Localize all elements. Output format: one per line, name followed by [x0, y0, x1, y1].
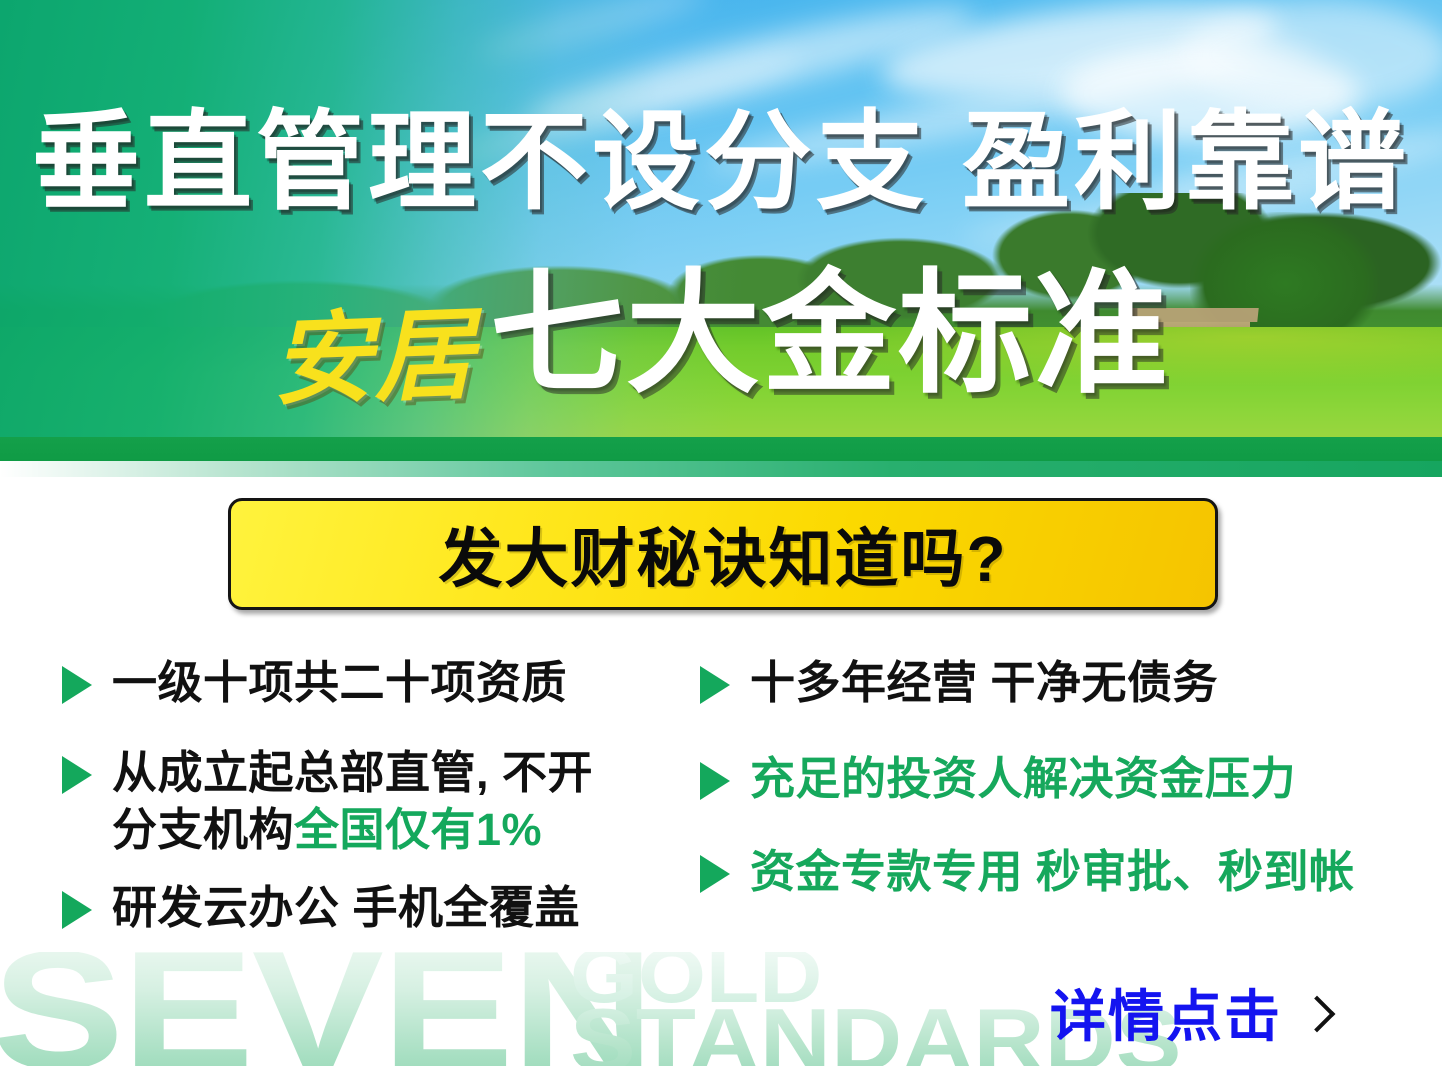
list-item: 研发云办公 手机全覆盖 [62, 880, 702, 936]
feature-text: 十多年经营 干净无债务 [750, 655, 1218, 711]
feature-line: 一级十项共二十项资质 [112, 657, 567, 708]
feature-text: 一级十项共二十项资质 [112, 655, 567, 711]
chevron-right-icon [1299, 995, 1336, 1032]
feature-text: 研发云办公 手机全覆盖 [112, 880, 580, 936]
feature-text: 资金专款专用 秒审批、秒到帐 [750, 844, 1355, 900]
feature-column-left: 一级十项共二十项资质 从成立起总部直管, 不开 分支机构全国仅有1% 研发云办公… [62, 655, 702, 966]
section-divider [0, 461, 1442, 477]
hero-banner: 垂直管理不设分支 盈利靠谱 安居七大金标准 [0, 0, 1442, 461]
triangle-right-icon [62, 756, 92, 794]
hero-headline: 垂直管理不设分支 盈利靠谱 [0, 108, 1442, 216]
brand-name: 安居 [270, 304, 477, 411]
highlight-banner-label: 发大财秘诀知道吗? [438, 508, 1007, 600]
list-item: 充足的投资人解决资金压力 [700, 751, 1420, 807]
feature-line: 资金专款专用 秒审批、秒到帐 [750, 846, 1355, 897]
feature-line: 研发云办公 手机全覆盖 [112, 882, 580, 933]
details-link-label: 详情点击 [1050, 972, 1282, 1053]
triangle-right-icon [700, 666, 730, 704]
list-item: 十多年经营 干净无债务 [700, 655, 1420, 711]
list-item: 从成立起总部直管, 不开 分支机构全国仅有1% [62, 745, 702, 858]
feature-line: 充足的投资人解决资金压力 [750, 753, 1296, 804]
feature-line: 十多年经营 干净无债务 [750, 657, 1218, 708]
details-link[interactable]: 详情点击 [1050, 972, 1330, 1053]
hero-bottom-band [0, 437, 1442, 461]
highlight-banner[interactable]: 发大财秘诀知道吗? [228, 498, 1218, 610]
feature-line: 分支机构 [112, 804, 294, 855]
list-item: 一级十项共二十项资质 [62, 655, 702, 711]
feature-text: 从成立起总部直管, 不开 分支机构全国仅有1% [112, 745, 593, 858]
list-item: 资金专款专用 秒审批、秒到帐 [700, 844, 1420, 900]
feature-text: 充足的投资人解决资金压力 [750, 751, 1296, 807]
feature-column-right: 十多年经营 干净无债务 充足的投资人解决资金压力 资金专款专用 秒审批、秒到帐 [700, 655, 1420, 930]
triangle-right-icon [62, 666, 92, 704]
hero-subheadline-row: 安居七大金标准 [0, 268, 1442, 402]
feature-list: 一级十项共二十项资质 从成立起总部直管, 不开 分支机构全国仅有1% 研发云办公… [0, 655, 1442, 985]
triangle-right-icon [700, 762, 730, 800]
triangle-right-icon [62, 891, 92, 929]
hero-subheadline: 七大金标准 [490, 268, 1170, 402]
feature-highlight: 全国仅有1% [294, 804, 542, 855]
promo-poster: 垂直管理不设分支 盈利靠谱 安居七大金标准 发大财秘诀知道吗? 一级十项共二十项… [0, 0, 1442, 1066]
feature-line: 从成立起总部直管, 不开 [112, 747, 593, 798]
triangle-right-icon [700, 855, 730, 893]
